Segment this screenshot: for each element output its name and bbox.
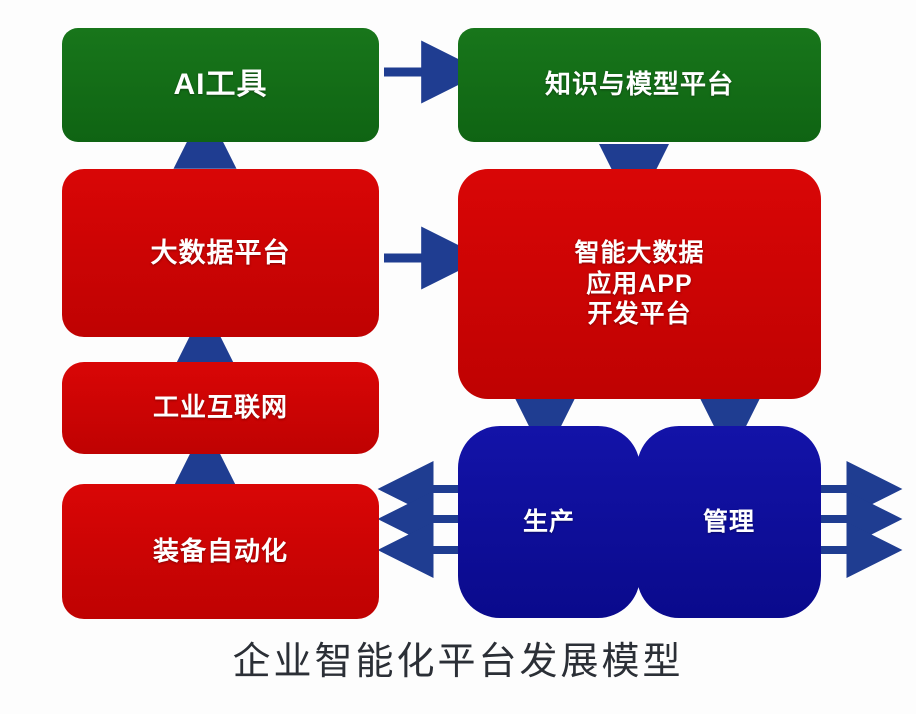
node-knowledge-model-platform-label: 知识与模型平台 (545, 69, 734, 101)
node-production-label: 生产 (523, 507, 575, 538)
node-ai-tools-label: AI工具 (174, 67, 268, 104)
node-smart-bigdata-app-dev-platform-label: 智能大数据 应用APP 开发平台 (574, 238, 704, 330)
node-industrial-internet-label: 工业互联网 (153, 392, 288, 424)
node-equipment-automation[interactable]: 装备自动化 (62, 484, 379, 619)
node-management[interactable]: 管理 (637, 426, 821, 618)
node-management-label: 管理 (703, 507, 755, 538)
node-big-data-platform-label: 大数据平台 (151, 237, 291, 270)
node-industrial-internet[interactable]: 工业互联网 (62, 362, 379, 454)
node-ai-tools[interactable]: AI工具 (62, 28, 379, 142)
node-smart-bigdata-app-dev-platform[interactable]: 智能大数据 应用APP 开发平台 (458, 169, 821, 399)
diagram-canvas: AI工具 知识与模型平台 大数据平台 智能大数据 应用APP 开发平台 工业互联… (0, 0, 916, 714)
node-equipment-automation-label: 装备自动化 (153, 536, 288, 568)
diagram-caption: 企业智能化平台发展模型 (0, 630, 916, 685)
node-production[interactable]: 生产 (458, 426, 640, 618)
node-big-data-platform[interactable]: 大数据平台 (62, 169, 379, 337)
node-knowledge-model-platform[interactable]: 知识与模型平台 (458, 28, 821, 142)
